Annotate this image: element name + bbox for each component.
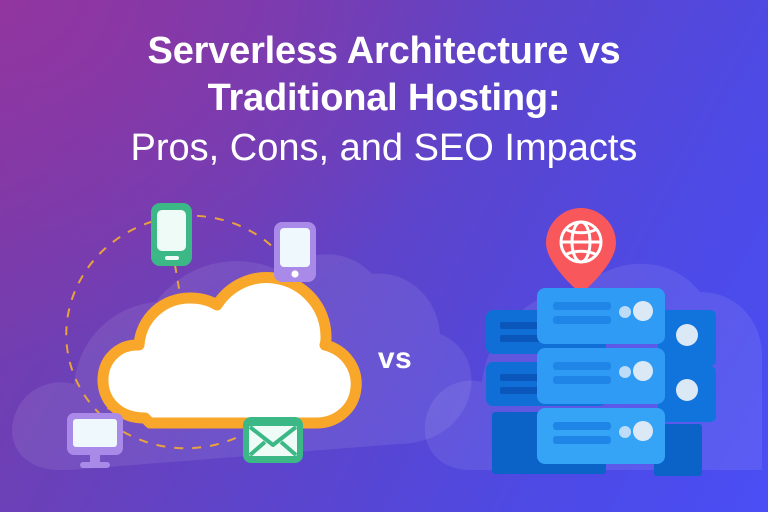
page-title: Serverless Architecture vs Traditional H… (0, 28, 768, 174)
vs-label: vs (360, 342, 430, 376)
title-line-3: Pros, Cons, and SEO Impacts (0, 122, 768, 174)
email-envelope-icon (243, 417, 303, 463)
title-line-1: Serverless Architecture vs (0, 28, 768, 75)
globe-location-pin-icon (546, 208, 616, 294)
server-rack-illustration (440, 190, 760, 490)
server-unit-1 (537, 288, 665, 344)
title-line-2: Traditional Hosting: (0, 75, 768, 122)
desktop-monitor-icon (67, 413, 123, 468)
server-unit-3 (537, 408, 665, 464)
server-unit-2 (537, 348, 665, 404)
serverless-illustration (40, 190, 370, 490)
promo-banner: Serverless Architecture vs Traditional H… (0, 0, 768, 512)
cloud-shape (103, 278, 356, 424)
tablet-icon (274, 222, 316, 282)
smartphone-icon (151, 203, 192, 266)
